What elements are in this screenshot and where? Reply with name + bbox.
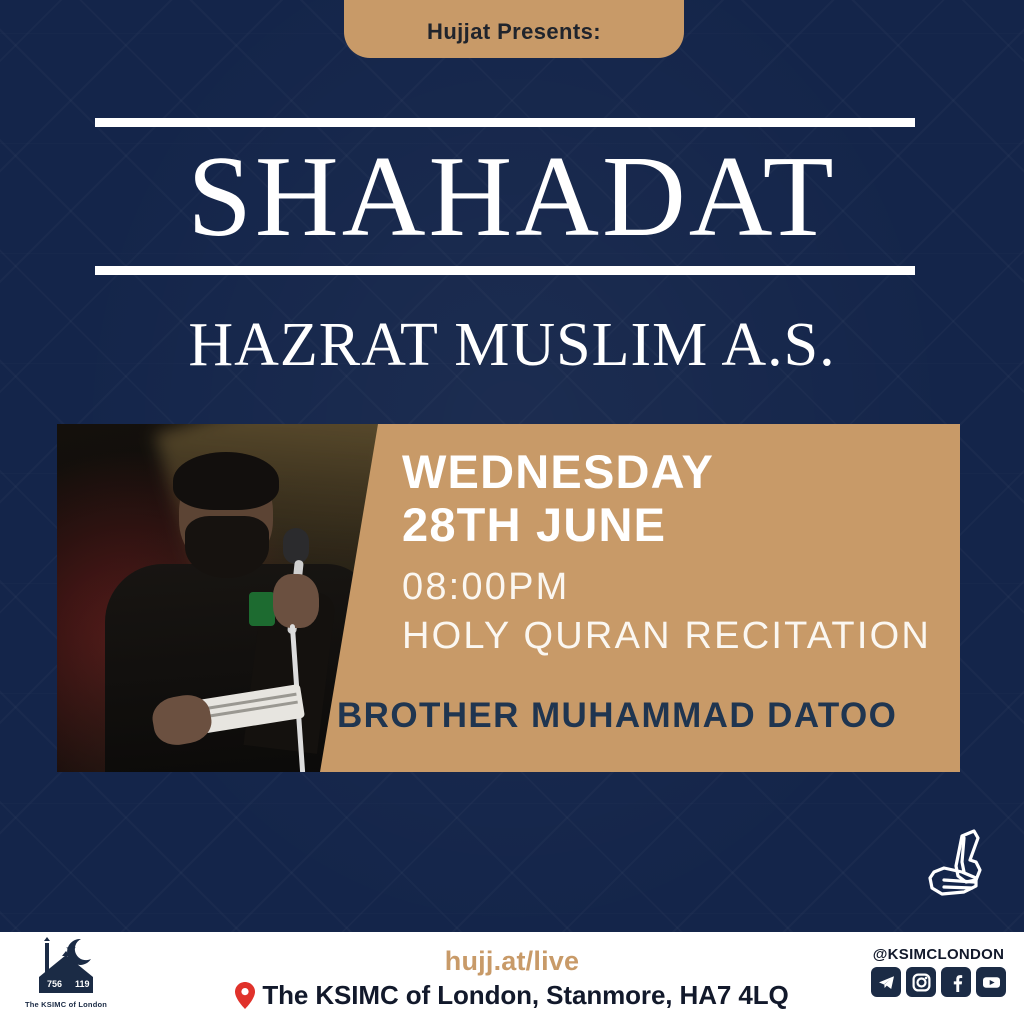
photo-speaker-lapel-badge (249, 592, 275, 626)
photo-speaker-hair (173, 452, 279, 510)
title-rule-top (95, 118, 915, 127)
social-handle: @KSIMCLONDON (873, 946, 1005, 963)
venue-address: The KSIMC of London, Stanmore, HA7 4LQ (262, 980, 788, 1011)
title-rule-bottom (95, 266, 915, 275)
event-details-band: WEDNESDAY 28TH JUNE 08:00PM HOLY QURAN R… (57, 424, 960, 772)
footer-bar: 756 119 The KSIMC of London hujj.at/live… (0, 932, 1024, 1024)
footer-address-row: The KSIMC of London, Stanmore, HA7 4LQ (235, 980, 788, 1011)
presents-badge-label: Hujjat Presents: (427, 19, 601, 45)
social-icons-row (871, 967, 1006, 997)
event-date: 28TH JUNE (402, 498, 942, 551)
map-pin-icon (235, 982, 255, 1009)
livestream-url[interactable]: hujj.at/live (445, 946, 579, 977)
photo-microphone (283, 528, 309, 564)
instagram-icon[interactable] (906, 967, 936, 997)
event-day: WEDNESDAY (402, 445, 942, 498)
social-group: @KSIMCLONDON (871, 946, 1006, 997)
praying-hands-icon (918, 822, 1002, 906)
event-time: 08:00PM (402, 563, 942, 612)
facebook-icon[interactable] (941, 967, 971, 997)
event-poster: Hujjat Presents: SHAHADAT HAZRAT MUSLIM … (0, 0, 1024, 1024)
telegram-icon[interactable] (871, 967, 901, 997)
page-title: SHAHADAT (0, 135, 1024, 259)
event-program: HOLY QURAN RECITATION (402, 612, 942, 661)
event-speaker: BROTHER MUHAMMAD DATOO (337, 696, 897, 736)
presents-badge: Hujjat Presents: (344, 0, 684, 58)
page-subtitle: HAZRAT MUSLIM A.S. (0, 310, 1024, 380)
youtube-icon[interactable] (976, 967, 1006, 997)
photo-speaker-hand (273, 574, 319, 628)
details-text-group: WEDNESDAY 28TH JUNE 08:00PM HOLY QURAN R… (402, 445, 942, 661)
photo-speaker-beard (185, 516, 269, 578)
